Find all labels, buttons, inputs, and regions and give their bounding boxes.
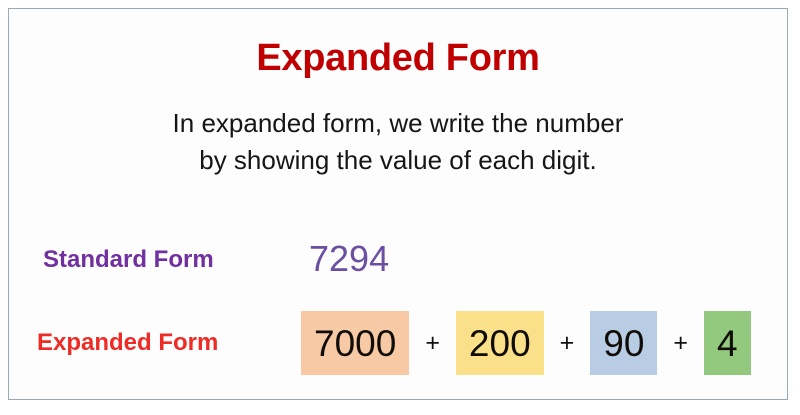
standard-form-row: Standard Form 7294 xyxy=(9,239,787,285)
plus-operator: + xyxy=(544,331,591,356)
place-value-box-ones: 4 xyxy=(704,311,751,375)
worksheet-canvas: Expanded Form In expanded form, we write… xyxy=(0,0,800,415)
expanded-form-row: Expanded Form 7000+200+90+4 xyxy=(9,311,787,377)
place-value-box-hundreds: 200 xyxy=(456,311,544,375)
page-title: Expanded Form xyxy=(9,39,787,77)
standard-form-label: Standard Form xyxy=(43,248,214,272)
lesson-card: Expanded Form In expanded form, we write… xyxy=(8,8,788,400)
plus-operator: + xyxy=(409,331,456,356)
place-value-box-thousands: 7000 xyxy=(301,311,409,375)
standard-form-value: 7294 xyxy=(309,239,389,279)
expanded-form-label: Expanded Form xyxy=(37,331,218,355)
description-line-2: by showing the value of each digit. xyxy=(9,142,787,179)
expanded-form-terms: 7000+200+90+4 xyxy=(301,311,751,375)
description-line-1: In expanded form, we write the number xyxy=(9,105,787,142)
plus-operator: + xyxy=(657,331,704,356)
description-text: In expanded form, we write the number by… xyxy=(9,105,787,179)
place-value-box-tens: 90 xyxy=(590,311,657,375)
